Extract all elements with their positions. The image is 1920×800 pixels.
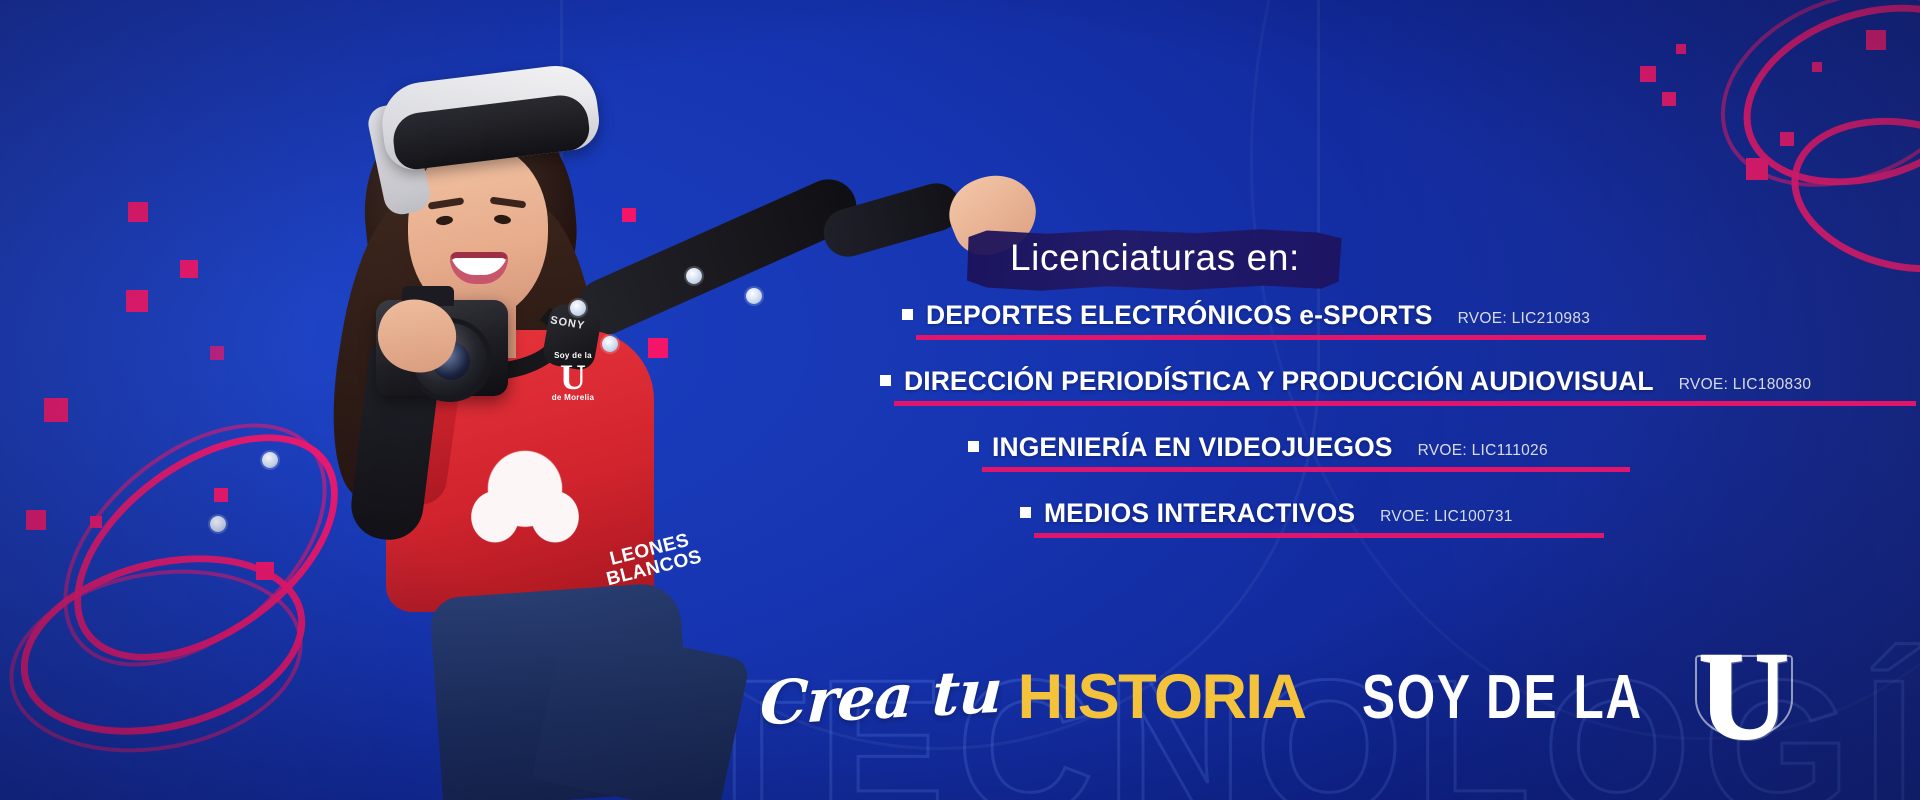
sparkle-dot-3 xyxy=(262,452,278,468)
pink-square-3 xyxy=(126,290,148,312)
program-rvoe: RVOE: LIC111026 xyxy=(1418,442,1548,460)
logo-wordmark: SOY DE LA xyxy=(1362,662,1643,733)
lion-jersey-graphic xyxy=(450,430,600,570)
tagline-script: Crea tu xyxy=(758,657,1003,740)
page-title: Licenciaturas en: xyxy=(1010,237,1300,279)
program-rvoe: RVOE: LIC210983 xyxy=(1458,310,1591,328)
bullet-square-icon xyxy=(902,309,913,320)
tagline: Crea tu HISTORIA xyxy=(760,661,1306,733)
promo-banner: TECNOLOGÍA xyxy=(0,0,1920,800)
crest-bottom-text: de Morelia xyxy=(542,394,604,402)
student-photo: SONY LEONES BLANCOS Soy de la U de Morel… xyxy=(150,0,770,800)
bullet-square-icon xyxy=(880,375,891,386)
program-name: DEPORTES ELECTRÓNICOS e-SPORTS xyxy=(926,300,1433,331)
program-rvoe: RVOE: LIC180830 xyxy=(1679,376,1812,394)
program-rvoe: RVOE: LIC100731 xyxy=(1380,508,1513,526)
sparkle-dot-6 xyxy=(686,268,702,284)
sparkle-dot-1 xyxy=(570,300,586,316)
right-arm xyxy=(569,170,866,343)
program-underline xyxy=(916,335,1706,340)
program-name: DIRECCIÓN PERIODÍSTICA Y PRODUCCIÓN AUDI… xyxy=(904,366,1654,397)
bottom-lockup: Crea tu HISTORIA SOY DE LA U xyxy=(760,622,1920,772)
tagline-emphasis: HISTORIA xyxy=(1018,661,1306,733)
jersey-crest: Soy de la U de Morelia xyxy=(542,352,604,414)
bullet-square-icon xyxy=(1020,507,1031,518)
sparkle-dot-2 xyxy=(602,336,618,352)
sparkle-dot-4 xyxy=(210,516,226,532)
pink-square-7 xyxy=(90,516,102,528)
list-item[interactable]: DEPORTES ELECTRÓNICOS e-SPORTS RVOE: LIC… xyxy=(880,300,1920,340)
university-logo: SOY DE LA U xyxy=(1362,647,1795,747)
pink-square-6 xyxy=(26,510,46,530)
crest-u-mark: U xyxy=(542,360,604,394)
bullet-square-icon xyxy=(968,441,979,452)
list-item[interactable]: MEDIOS INTERACTIVOS RVOE: LIC100731 xyxy=(880,498,1920,538)
pink-square-5 xyxy=(44,398,68,422)
list-item[interactable]: INGENIERÍA EN VIDEOJUEGOS RVOE: LIC11102… xyxy=(880,432,1920,472)
sparkle-dot-5 xyxy=(746,288,762,304)
pink-square-1 xyxy=(128,202,148,222)
list-item[interactable]: DIRECCIÓN PERIODÍSTICA Y PRODUCCIÓN AUDI… xyxy=(880,366,1920,406)
program-underline xyxy=(982,467,1630,472)
program-name: MEDIOS INTERACTIVOS xyxy=(1044,498,1355,529)
jeans-right xyxy=(531,622,750,800)
program-underline xyxy=(1034,533,1604,538)
program-name: INGENIERÍA EN VIDEOJUEGOS xyxy=(992,432,1393,463)
program-underline xyxy=(894,401,1916,406)
program-list: DEPORTES ELECTRÓNICOS e-SPORTS RVOE: LIC… xyxy=(880,300,1920,564)
heading-banner: Licenciaturas en: xyxy=(964,228,1344,292)
logo-u-mark: U xyxy=(1693,647,1795,747)
